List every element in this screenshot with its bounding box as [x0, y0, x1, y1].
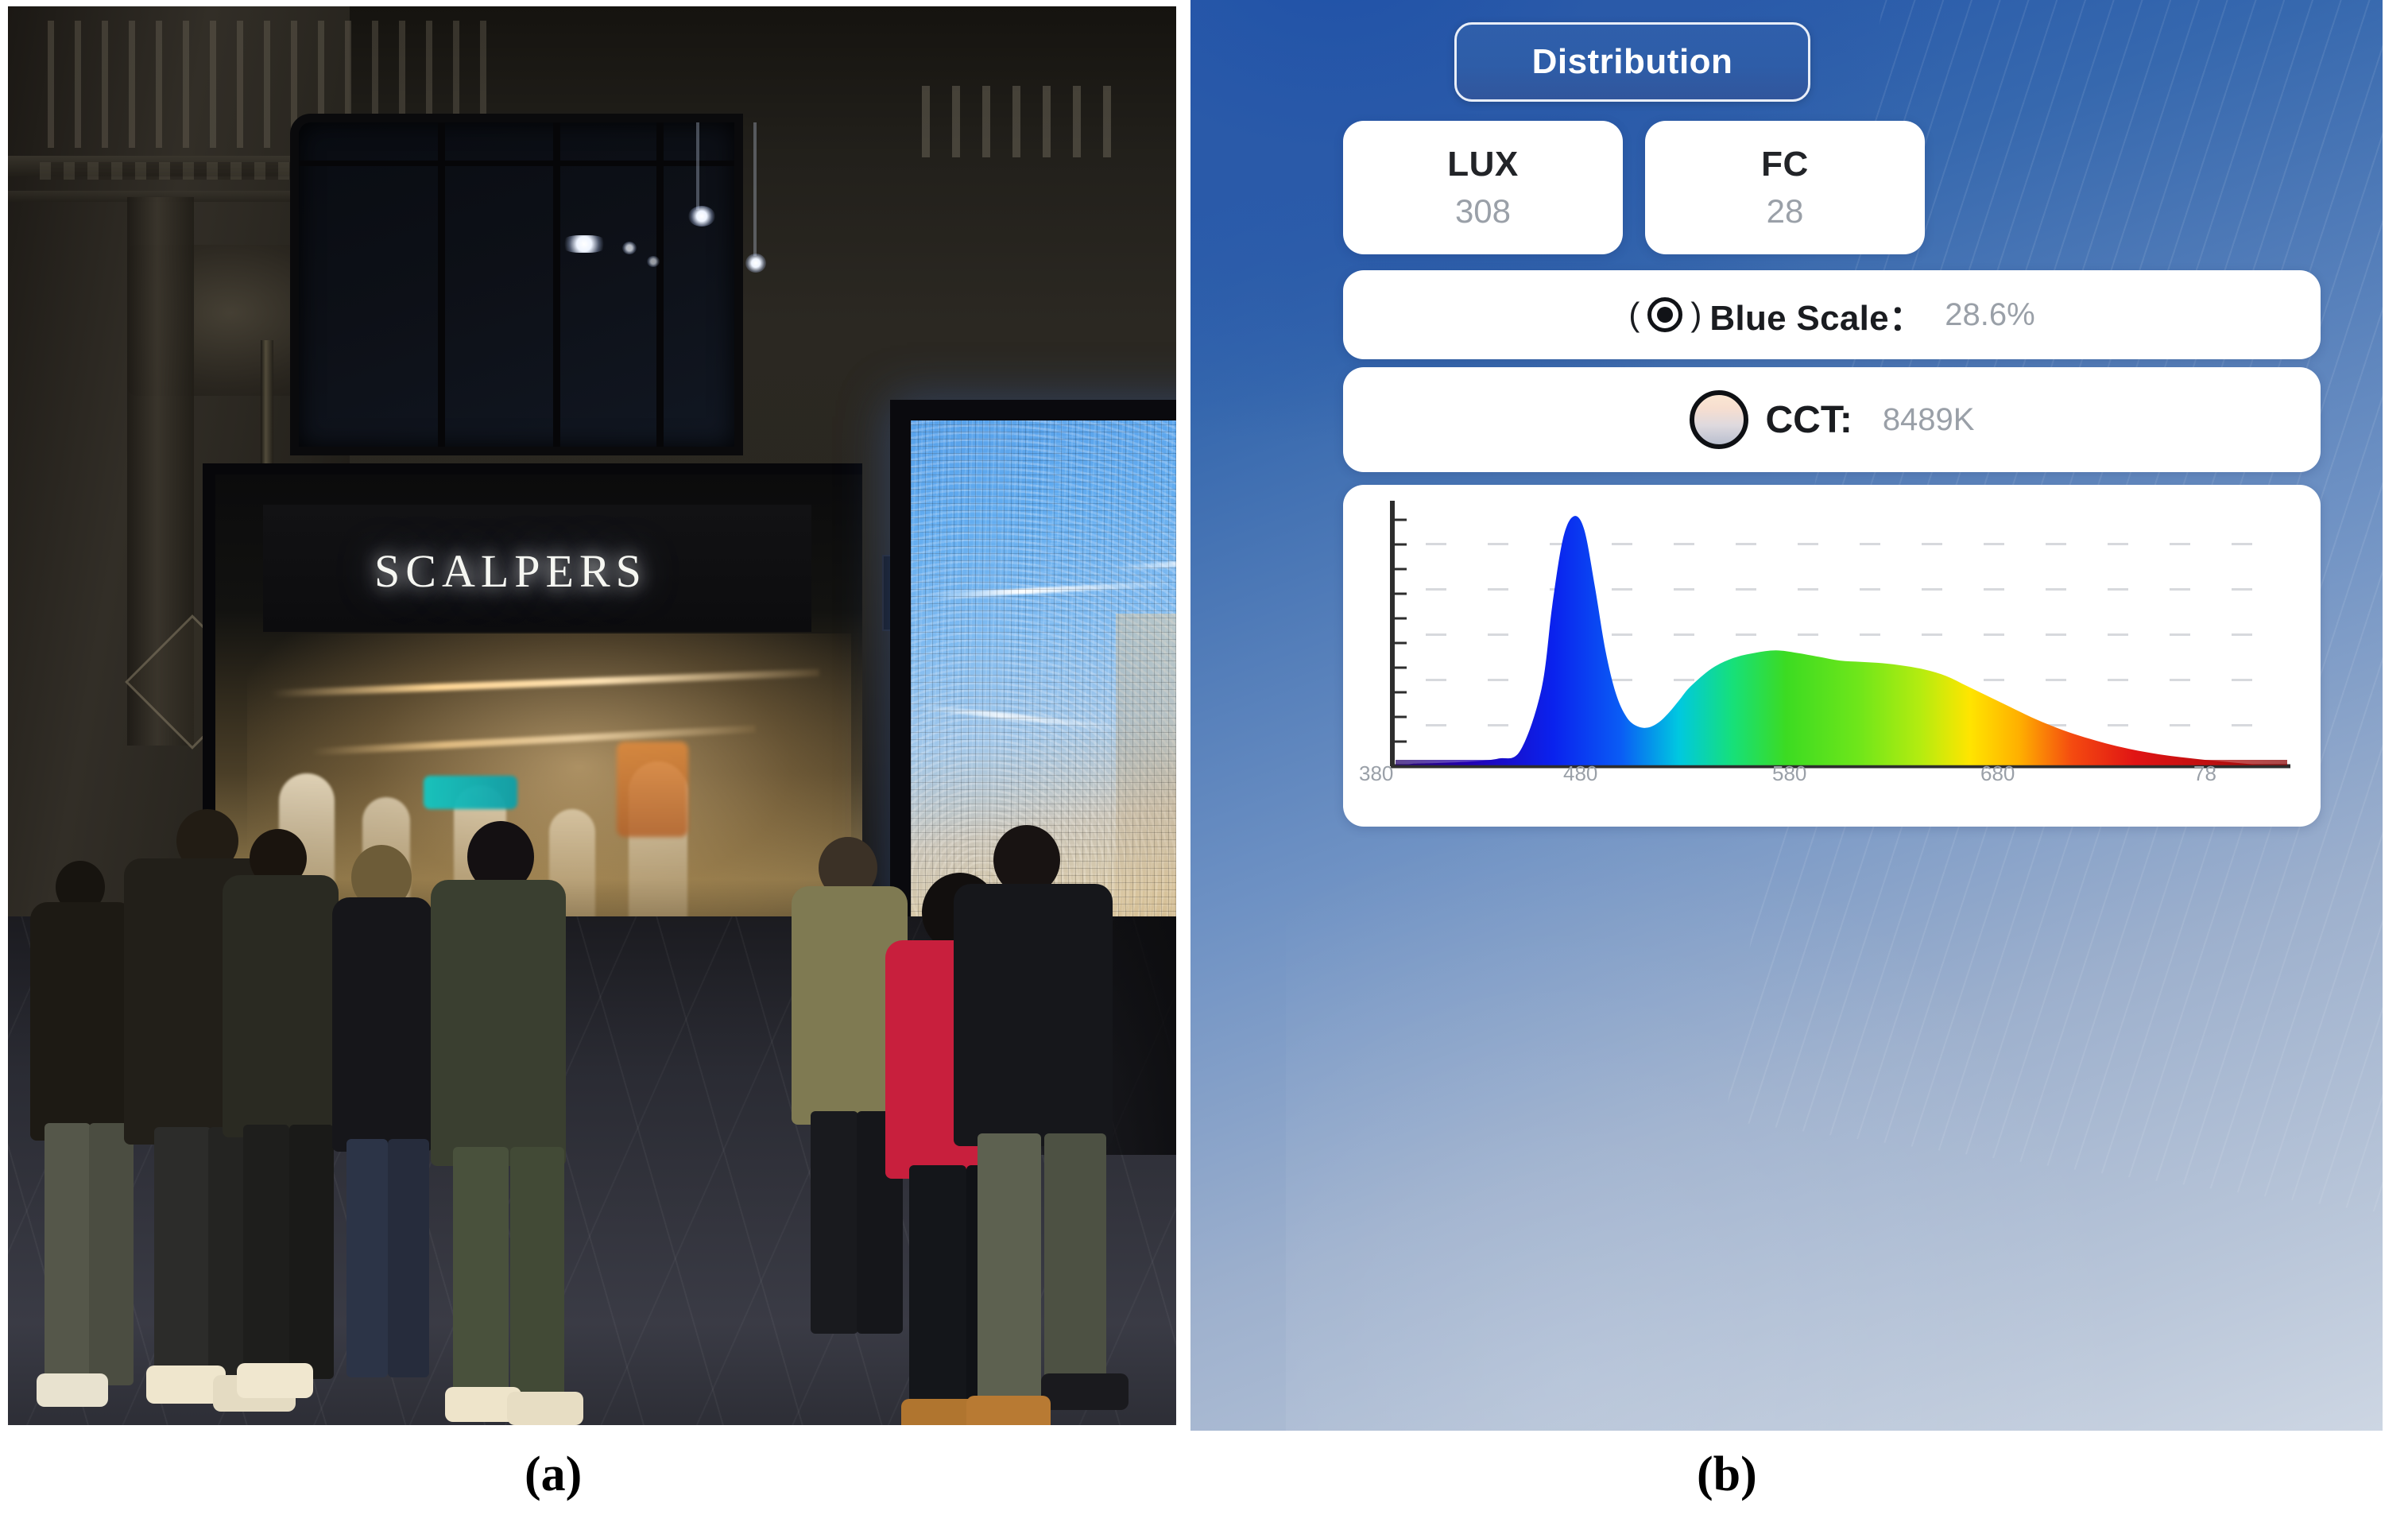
- blue-scale-row[interactable]: ( ) Blue Scale： 28.6%: [1343, 270, 2321, 359]
- x-tick-680: 680: [1980, 761, 2015, 786]
- blue-scale-value: 28.6%: [1945, 297, 2034, 333]
- metric-value-lux: 308: [1455, 192, 1511, 230]
- two-panel-figure: SCALPERS ♟: [0, 0, 2408, 1534]
- metric-label-fc: FC: [1761, 145, 1809, 184]
- ceiling-lamp: [688, 206, 715, 227]
- pedestrian: [946, 825, 1129, 1425]
- window-transom: [299, 161, 734, 166]
- window-mullion: [656, 122, 664, 447]
- upper-corner-window: [290, 114, 743, 455]
- lamp-stem: [696, 122, 699, 210]
- teal-merchandise: [424, 776, 517, 809]
- cct-value: 8489K: [1883, 402, 1975, 438]
- cct-label: CCT:: [1766, 398, 1852, 442]
- ceiling-lamp: [622, 242, 637, 254]
- ceiling-lamp: [561, 235, 607, 253]
- store-sign-text: SCALPERS: [374, 544, 647, 598]
- upper-right-railing: [922, 86, 1129, 157]
- panel-b-app-screenshot: Distribution LUX 308 FC 28 ( ) Blue Scal…: [1190, 0, 2383, 1431]
- orange-merchandise: [617, 742, 688, 837]
- paren-open: (: [1628, 298, 1640, 331]
- distribution-tab-button[interactable]: Distribution: [1454, 22, 1810, 102]
- pedestrian: [326, 845, 437, 1401]
- spectral-power-distribution-chart: [1364, 498, 2302, 815]
- ceiling-lamp: [745, 254, 766, 273]
- panel-a-night-photo: SCALPERS ♟: [8, 6, 1176, 1425]
- metric-value-fc: 28: [1767, 192, 1804, 230]
- window-mullion: [438, 122, 445, 447]
- pedestrian: [421, 821, 572, 1425]
- spectrum-chart-card[interactable]: 380 480 580 680 78: [1343, 485, 2321, 827]
- lamp-stem: [753, 122, 757, 256]
- metric-card-fc[interactable]: FC 28: [1645, 121, 1925, 254]
- caption-a: (a): [525, 1447, 582, 1503]
- metric-label-lux: LUX: [1447, 145, 1519, 184]
- pedestrian: [221, 829, 340, 1401]
- x-tick-580: 580: [1772, 761, 1806, 786]
- blue-scale-label: Blue Scale：: [1709, 289, 1924, 340]
- x-tick-480: 480: [1563, 761, 1597, 786]
- window-mullion: [553, 122, 560, 447]
- ceiling-lamp: [647, 256, 660, 267]
- eye-target-icon: [1647, 297, 1682, 332]
- metric-card-lux[interactable]: LUX 308: [1343, 121, 1623, 254]
- x-tick-380: 380: [1359, 761, 1393, 786]
- paren-close: ): [1690, 298, 1701, 331]
- blue-scale-inner: ( ) Blue Scale： 28.6%: [1628, 289, 2034, 340]
- caption-b: (b): [1697, 1447, 1757, 1503]
- cct-row[interactable]: CCT: 8489K: [1343, 367, 2321, 472]
- cct-inner: CCT: 8489K: [1690, 390, 1975, 449]
- spectrum-baseline-strip: [1396, 760, 2287, 765]
- x-tick-780: 78: [2193, 761, 2216, 786]
- color-swatch-circle-icon: [1690, 390, 1748, 449]
- photo-stage: SCALPERS ♟: [8, 6, 1176, 1425]
